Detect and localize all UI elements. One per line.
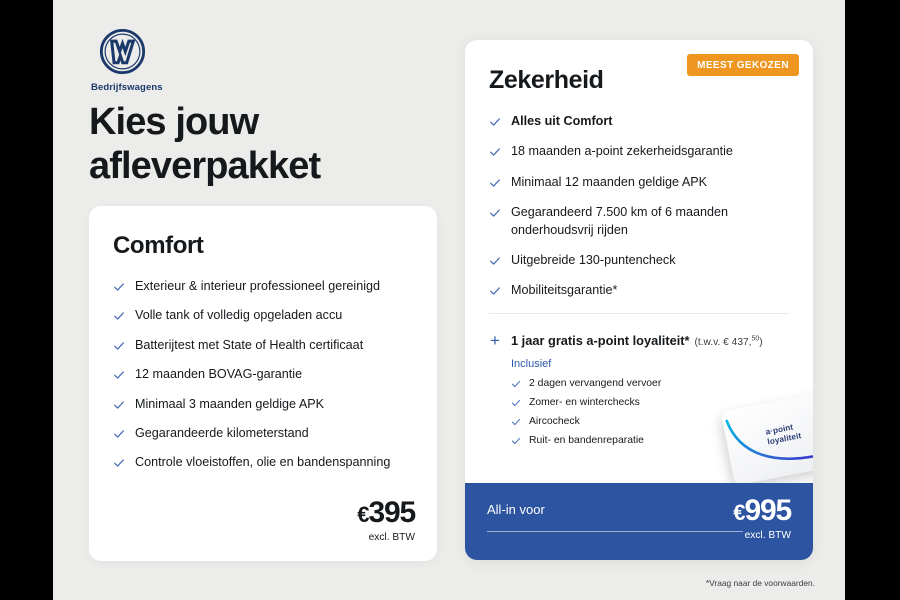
inclusief-text: Ruit- en bandenreparatie: [529, 434, 644, 447]
comfort-title: Comfort: [113, 232, 413, 260]
volkswagen-logo-icon: [91, 28, 251, 75]
feature-text: Uitgebreide 130-puntencheck: [511, 252, 676, 269]
check-icon: [489, 285, 501, 297]
package-card-zekerheid[interactable]: MEEST GEKOZEN Zekerheid Alles uit Comfor…: [465, 40, 813, 560]
inclusief-text: Aircocheck: [529, 415, 580, 428]
check-icon: [113, 310, 125, 322]
list-item: Minimaal 12 maanden geldige APK: [489, 174, 789, 191]
poster-canvas: Bedrijfswagens Kies jouwafleverpakket Co…: [53, 0, 845, 600]
comfort-price-amount: 395: [369, 496, 415, 529]
inclusief-text: Zomer- en winterchecks: [529, 396, 640, 409]
loyalty-label: 1 jaar gratis a-point loyaliteit*: [511, 333, 690, 348]
section-divider: [489, 313, 789, 314]
feature-text: Alles uit Comfort: [511, 113, 612, 130]
zekerheid-price-currency: €: [733, 500, 744, 525]
list-item: Exterieur & interieur professioneel gere…: [113, 278, 413, 295]
comfort-price-block: €395 excl. BTW: [357, 498, 415, 543]
check-icon: [489, 207, 501, 219]
check-icon: [489, 146, 501, 158]
check-icon: [113, 340, 125, 352]
check-icon: [489, 116, 501, 128]
list-item: Controle vloeistoffen, olie en bandenspa…: [113, 454, 413, 471]
check-icon: [113, 281, 125, 293]
comfort-price-note: excl. BTW: [357, 532, 415, 543]
zekerheid-price: €995: [733, 496, 791, 526]
list-item: Batterijtest met State of Health certifi…: [113, 337, 413, 354]
feature-text: 12 maanden BOVAG-garantie: [135, 366, 302, 383]
feature-text: 18 maanden a-point zekerheidsgarantie: [511, 143, 733, 160]
plus-icon: +: [489, 332, 501, 349]
list-item: Mobiliteitsgarantie*: [489, 282, 789, 299]
brand-subtitle: Bedrijfswagens: [91, 82, 251, 93]
check-icon: [511, 379, 521, 389]
page-title-line: afleverpakket: [89, 144, 419, 188]
check-icon: [489, 177, 501, 189]
page-title-line: Kies jouw: [89, 100, 419, 144]
loyalty-value-note: (t.w.v. € 437,50): [695, 337, 763, 348]
comfort-price: €395: [357, 498, 415, 528]
inclusief-text: 2 dagen vervangend vervoer: [529, 377, 661, 390]
feature-text: Mobiliteitsgarantie*: [511, 282, 617, 299]
page-title: Kies jouwafleverpakket: [89, 100, 419, 189]
feature-text: Gegarandeerd 7.500 km of 6 maanden onder…: [511, 204, 789, 239]
check-icon: [113, 428, 125, 440]
comfort-feature-list: Exterieur & interieur professioneel gere…: [113, 278, 413, 472]
screenshot-stage: Bedrijfswagens Kies jouwafleverpakket Co…: [0, 0, 900, 600]
list-item: 2 dagen vervangend vervoer: [511, 377, 789, 390]
list-item: Uitgebreide 130-puntencheck: [489, 252, 789, 269]
footer-rule: [487, 531, 743, 532]
check-icon: [113, 457, 125, 469]
list-item: Alles uit Comfort: [489, 113, 789, 130]
footnote: *Vraag naar de voorwaarden.: [706, 578, 815, 588]
check-icon: [489, 255, 501, 267]
list-item: Gegarandeerd 7.500 km of 6 maanden onder…: [489, 204, 789, 239]
package-card-comfort[interactable]: Comfort Exterieur & interieur profession…: [89, 206, 437, 561]
zekerheid-price-amount: 995: [745, 494, 791, 527]
allin-label: All-in voor: [487, 502, 545, 517]
zekerheid-price-footer: All-in voor €995 excl. BTW: [465, 483, 813, 560]
status-badge: MEEST GEKOZEN: [687, 54, 799, 76]
brand-block: Bedrijfswagens: [91, 28, 251, 93]
check-icon: [113, 369, 125, 381]
check-icon: [113, 399, 125, 411]
check-icon: [511, 436, 521, 446]
feature-text: Volle tank of volledig opgeladen accu: [135, 307, 342, 324]
list-item: 18 maanden a-point zekerheidsgarantie: [489, 143, 789, 160]
feature-text: Minimaal 3 maanden geldige APK: [135, 396, 324, 413]
feature-text: Batterijtest met State of Health certifi…: [135, 337, 363, 354]
loyalty-plus-row: + 1 jaar gratis a-point loyaliteit*(t.w.…: [489, 331, 789, 350]
check-icon: [511, 398, 521, 408]
inclusief-title: Inclusief: [511, 358, 789, 370]
check-icon: [511, 417, 521, 427]
feature-text: Exterieur & interieur professioneel gere…: [135, 278, 380, 295]
list-item: Gegarandeerde kilometerstand: [113, 425, 413, 442]
feature-text: Controle vloeistoffen, olie en bandenspa…: [135, 454, 390, 471]
list-item: 12 maanden BOVAG-garantie: [113, 366, 413, 383]
zekerheid-price-note: excl. BTW: [745, 530, 791, 541]
feature-text: Gegarandeerde kilometerstand: [135, 425, 309, 442]
comfort-price-currency: €: [357, 502, 368, 527]
list-item: Minimaal 3 maanden geldige APK: [113, 396, 413, 413]
list-item: Volle tank of volledig opgeladen accu: [113, 307, 413, 324]
zekerheid-feature-list: Alles uit Comfort18 maanden a-point zeke…: [489, 113, 789, 300]
feature-text: Minimaal 12 maanden geldige APK: [511, 174, 707, 191]
